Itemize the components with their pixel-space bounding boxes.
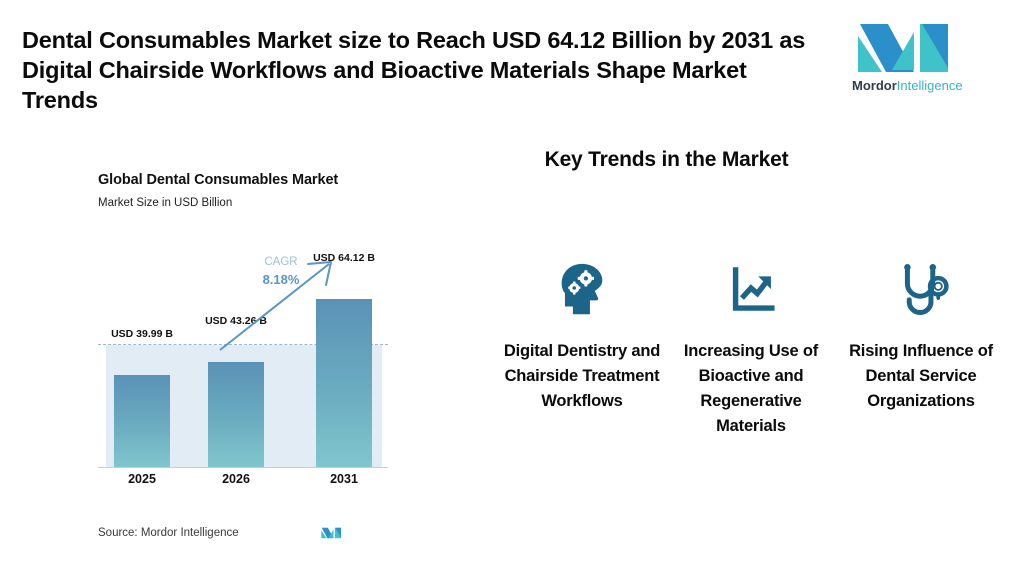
x-tick-2026: 2026: [206, 472, 266, 486]
brand-word-intelligence: Intelligence: [897, 78, 963, 93]
trend-label-3: Rising Influence of Dental Service Organ…: [836, 339, 1006, 414]
mordor-m-logo-icon: [852, 22, 962, 74]
mordor-intelligence-logo: MordorIntelligence: [852, 22, 962, 98]
trend-item-bioactive-materials: Increasing Use of Bioactive and Regenera…: [666, 253, 836, 439]
trend-label-2: Increasing Use of Bioactive and Regenera…: [666, 339, 836, 439]
cagr-annotation: CAGR 8.18%: [250, 254, 312, 288]
brand-wordmark: MordorIntelligence: [852, 78, 962, 93]
key-trends-section: Key Trends in the Market: [470, 148, 1015, 508]
chart-title: Global Dental Consumables Market: [98, 172, 338, 188]
page-title: Dental Consumables Market size to Reach …: [22, 25, 822, 115]
cagr-label: CAGR: [250, 254, 312, 271]
trend-item-digital-dentistry: Digital Dentistry and Chairside Treatmen…: [497, 253, 667, 414]
chart-subtitle: Market Size in USD Billion: [98, 197, 232, 209]
cagr-value: 8.18%: [250, 271, 312, 288]
bar-2026: [208, 362, 264, 467]
growth-chart-icon: [666, 253, 836, 325]
x-axis-line: [98, 467, 388, 468]
bar-label-2025: USD 39.99 B: [94, 328, 190, 340]
market-size-chart: Global Dental Consumables Market Market …: [98, 172, 398, 552]
key-trends-heading: Key Trends in the Market: [470, 148, 863, 172]
trend-item-dental-service-orgs: Rising Influence of Dental Service Organ…: [836, 253, 1006, 414]
brand-word-mordor: Mordor: [852, 78, 897, 93]
chart-plot-area: USD 39.99 B USD 43.26 B USD 64.12 B CAGR…: [98, 232, 388, 497]
chart-source: Source: Mordor Intelligence: [98, 527, 239, 539]
trend-label-1: Digital Dentistry and Chairside Treatmen…: [497, 339, 667, 414]
bar-2025: [114, 375, 170, 467]
stethoscope-icon: [836, 253, 1006, 325]
head-with-gears-icon: [497, 253, 667, 325]
x-tick-2025: 2025: [112, 472, 172, 486]
x-tick-2031: 2031: [314, 472, 374, 486]
page-header: Dental Consumables Market size to Reach …: [0, 0, 1015, 130]
mordor-m-mark-icon: [320, 524, 344, 542]
